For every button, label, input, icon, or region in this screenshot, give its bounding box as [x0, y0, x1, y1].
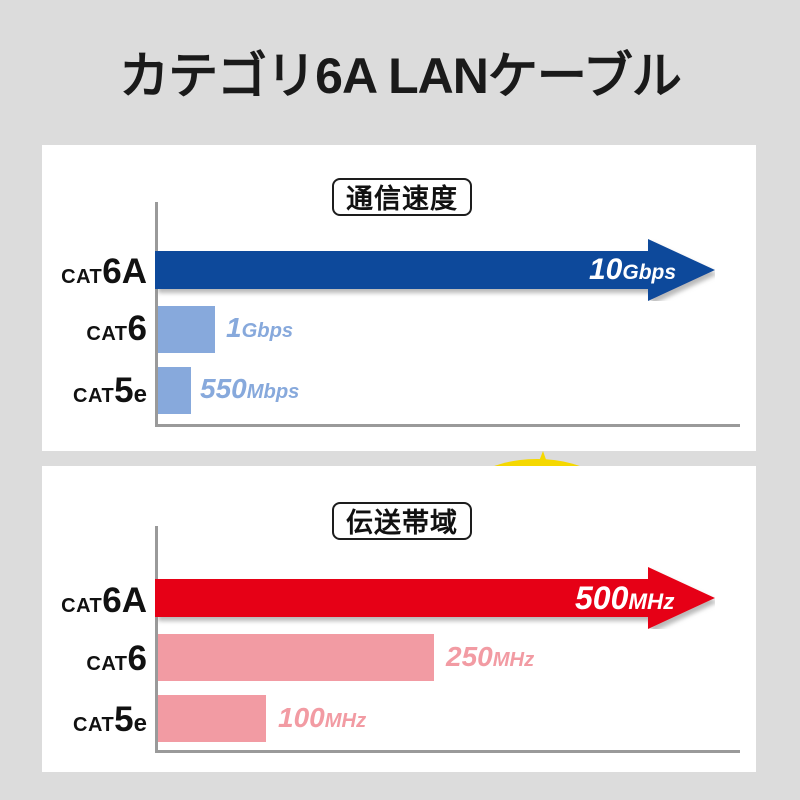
speed-cat6a-suffix: A [122, 252, 147, 291]
speed-category-label-cat6a: CAT6A [42, 254, 147, 289]
speed-cat5e-value-unit: Mbps [247, 381, 300, 403]
speed-bar-cat5e [158, 367, 191, 414]
bandwidth-cat6-value: 250MHz [446, 643, 534, 671]
page-title: カテゴリ6A LANケーブル [0, 36, 800, 108]
speed-cat6-value-number: 1 [226, 312, 242, 343]
bandwidth-cat6-main: 6 [128, 639, 147, 678]
bandwidth-category-label-cat6a: CAT6A [42, 583, 147, 618]
speed-section-badge: 通信速度 [332, 178, 472, 216]
bandwidth-cat5e-value-number: 100 [278, 702, 325, 733]
bandwidth-cat6-value-unit: MHz [493, 649, 534, 671]
speed-cat5e-value: 550Mbps [200, 375, 299, 403]
bandwidth-cat6-prefix: CAT [86, 653, 127, 675]
bandwidth-cat5e-main: 5 [114, 700, 133, 739]
bandwidth-chart-card: 伝送帯域 CAT6A 500MHz CAT6 250MHz [42, 466, 756, 772]
bandwidth-x-axis [155, 750, 740, 753]
speed-bar-cat6a-arrow: 10Gbps [155, 239, 715, 301]
bandwidth-section-badge: 伝送帯域 [332, 502, 472, 540]
speed-cat5e-value-number: 550 [200, 373, 247, 404]
bandwidth-category-label-cat5e: CAT5e [42, 702, 147, 737]
speed-cat5e-main: 5 [114, 371, 133, 410]
bandwidth-cat5e-value: 100MHz [278, 704, 366, 732]
bandwidth-cat6a-value-unit: MHz [628, 589, 674, 614]
bandwidth-cat6-value-number: 250 [446, 641, 493, 672]
bandwidth-category-label-cat6: CAT6 [42, 641, 147, 676]
speed-category-label-cat5e: CAT5e [42, 373, 147, 408]
speed-cat6-value-unit: Gbps [242, 320, 294, 342]
bandwidth-chart-area: 伝送帯域 CAT6A 500MHz CAT6 250MHz [42, 466, 756, 772]
speed-x-axis [155, 424, 740, 427]
speed-cat6a-prefix: CAT [61, 266, 102, 288]
bandwidth-cat6a-value: 500MHz [575, 582, 674, 614]
speed-cat5e-suffix: e [134, 381, 147, 408]
bandwidth-cat5e-value-unit: MHz [325, 710, 366, 732]
speed-cat6a-value-unit: Gbps [622, 261, 676, 284]
speed-cat6-value: 1Gbps [226, 314, 293, 342]
speed-cat6-prefix: CAT [86, 323, 127, 345]
bandwidth-cat6a-suffix: A [122, 581, 147, 620]
speed-bar-cat6 [158, 306, 215, 353]
bandwidth-cat5e-prefix: CAT [73, 714, 114, 736]
bandwidth-bar-cat6 [158, 634, 434, 681]
speed-cat5e-prefix: CAT [73, 385, 114, 407]
bandwidth-cat5e-suffix: e [134, 710, 147, 737]
bandwidth-bar-cat6a-arrow: 500MHz [155, 567, 715, 629]
bandwidth-cat6a-main: 6 [102, 581, 121, 620]
speed-chart-area: 通信速度 CAT6A 10Gbps CAT6 1Gbps [42, 145, 756, 451]
bandwidth-bar-cat5e [158, 695, 266, 742]
bandwidth-cat6a-prefix: CAT [61, 595, 102, 617]
speed-cat6a-value: 10Gbps [589, 255, 676, 285]
bandwidth-cat6a-value-number: 500 [575, 580, 628, 616]
speed-cat6-main: 6 [128, 309, 147, 348]
speed-category-label-cat6: CAT6 [42, 311, 147, 346]
speed-cat6a-main: 6 [102, 252, 121, 291]
speed-cat6a-value-number: 10 [589, 253, 622, 286]
speed-chart-card: 通信速度 CAT6A 10Gbps CAT6 1Gbps [42, 145, 756, 451]
